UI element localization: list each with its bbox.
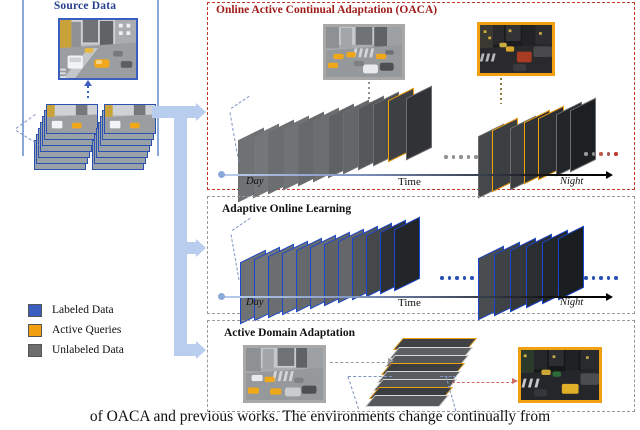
- connector-arrow-oaca: [196, 103, 206, 121]
- oaca-night-photo: [477, 22, 555, 76]
- aol-axis-label-day: Day: [246, 297, 264, 308]
- connector-arrow-aol: [196, 239, 206, 257]
- panel-aol-title: Adaptive Online Learning: [222, 203, 351, 215]
- stack-thumb: [47, 105, 97, 133]
- connector-branch-ada: [174, 344, 196, 356]
- source-data-title: Source Data: [30, 0, 140, 12]
- ada-stack-guide-upper: [348, 376, 392, 377]
- target-night-street-photo: [521, 350, 599, 400]
- connector-arrow-ada: [196, 341, 206, 359]
- ada-stack-to-target-arrow: [452, 382, 514, 383]
- legend-label-unlabeled: Unlabeled Data: [52, 344, 124, 356]
- aol-time-axis-arrow: [606, 293, 613, 301]
- aol-axis-label-time: Time: [398, 297, 421, 309]
- frame-labeled: [558, 226, 584, 301]
- source-panel-right-rule: [157, 0, 159, 156]
- legend-item-labeled: Labeled Data: [28, 300, 124, 320]
- oaca-night-photo-connector: [500, 78, 502, 104]
- figure-canvas: Source Data: [0, 0, 640, 430]
- legend-label-active: Active Queries: [52, 324, 121, 336]
- day-street-photo: [326, 27, 402, 77]
- frame-labeled: [394, 217, 420, 292]
- stack-thumb: [105, 105, 155, 133]
- daytime-city-street-photo: [60, 20, 136, 78]
- legend: Labeled Data Active Queries Unlabeled Da…: [28, 300, 124, 360]
- panel-ada-title: Active Domain Adaptation: [224, 327, 355, 339]
- frame-unlabeled: [406, 86, 432, 161]
- aol-axis-label-night: Night: [560, 297, 583, 308]
- connector-branch-oaca: [174, 106, 196, 118]
- legend-item-unlabeled: Unlabeled Data: [28, 340, 124, 360]
- ada-source-photo: [243, 345, 326, 403]
- panel-oaca-title: Online Active Continual Adaptation (OACA…: [216, 4, 437, 16]
- stack-depth-guide-top: [16, 114, 36, 129]
- ada-source-to-stack-arrowhead: [388, 358, 394, 364]
- aol-time-axis-origin: [218, 293, 225, 300]
- connector-branch-aol: [174, 242, 196, 254]
- source-dotted-connector: [87, 86, 89, 100]
- oaca-axis-label-time: Time: [398, 176, 421, 188]
- oaca-axis-label-day: Day: [246, 176, 264, 187]
- legend-item-active: Active Queries: [28, 320, 124, 340]
- legend-swatch-labeled: [28, 304, 42, 317]
- figure-caption: of OACA and previous works. The environm…: [0, 408, 640, 426]
- source-day-street-photo: [246, 348, 323, 400]
- night-street-photo: [480, 25, 552, 73]
- oaca-axis-label-night: Night: [560, 176, 583, 187]
- stack-layer-unlabeled: [365, 395, 449, 407]
- source-main-photo: [58, 18, 138, 80]
- ada-target-photo: [518, 347, 602, 403]
- frame-unlabeled: [570, 98, 596, 173]
- oaca-time-axis-origin: [218, 171, 225, 178]
- source-panel-left-rule: [22, 0, 24, 156]
- legend-swatch-unlabeled: [28, 344, 42, 357]
- ada-stack-guide-upper-right: [440, 376, 456, 377]
- oaca-ellipsis-middle: [444, 155, 478, 159]
- aol-ellipsis-right: [584, 276, 618, 280]
- ada-source-to-stack-arrow: [330, 362, 390, 363]
- oaca-day-photo: [323, 24, 405, 80]
- legend-label-labeled: Labeled Data: [52, 304, 114, 316]
- connector-trunk-vertical: [174, 106, 187, 356]
- legend-swatch-active: [28, 324, 42, 337]
- oaca-ellipsis-right: [584, 152, 618, 156]
- aol-ellipsis-middle: [440, 276, 481, 280]
- oaca-time-axis-arrow: [606, 171, 613, 179]
